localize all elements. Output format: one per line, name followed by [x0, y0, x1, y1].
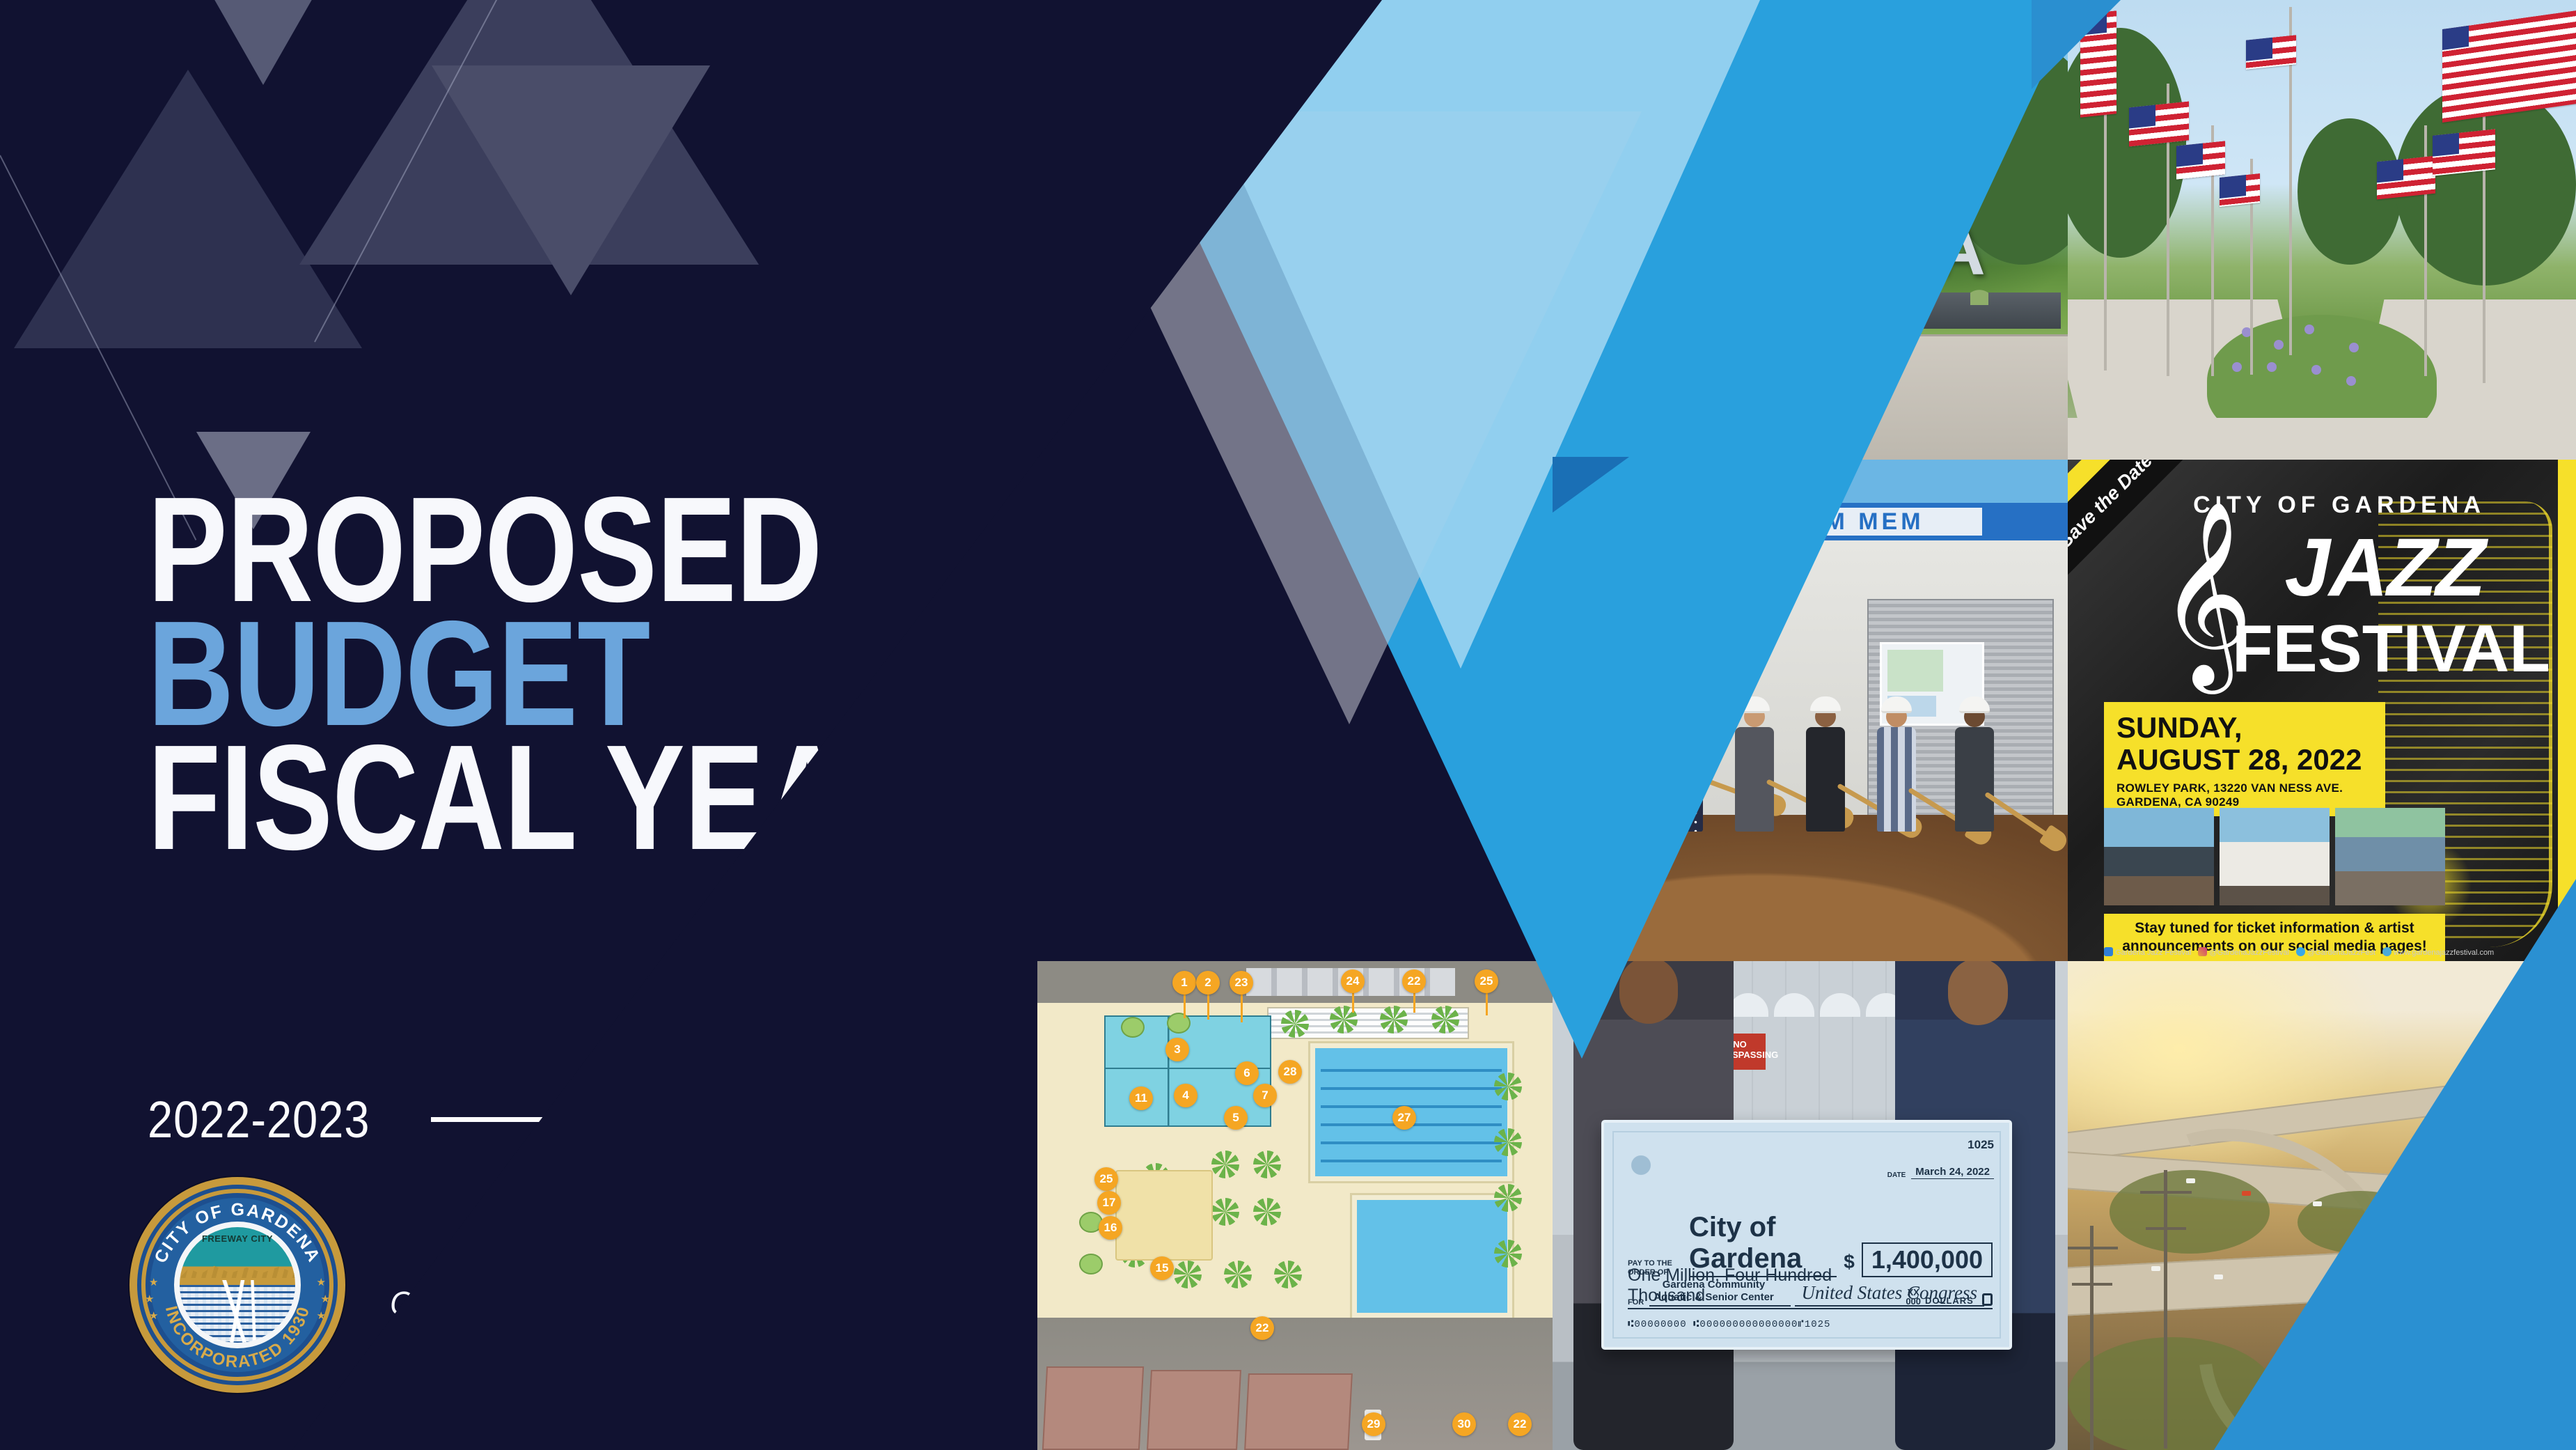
photo-avenue-of-flags: Avenue of American flags lining a civic … — [2068, 0, 2576, 460]
site-callout: 17 — [1097, 1191, 1121, 1215]
svg-text:CITY OF GARDENA: CITY OF GARDENA — [150, 1200, 324, 1266]
site-callout: 29 — [1362, 1412, 1385, 1436]
facebook-icon: Gardena Jazz Festival — [2104, 947, 2191, 957]
blue-corner-wedge-bottom-right — [2214, 879, 2576, 1450]
seal-bottom-arc: INCORPORATED 1930 — [162, 1304, 313, 1371]
site-callout: 15 — [1150, 1256, 1174, 1280]
fiscal-year-start: 2022-2023 — [148, 1090, 370, 1149]
check-micr-line: ⑆00000000 ⑆000000000000000⑈1025 — [1628, 1319, 1830, 1330]
congressional-seal-icon — [1626, 1151, 1656, 1185]
check-for-line-1: Gardena Community — [1663, 1279, 1766, 1291]
blue-corner-wedge-top-right — [2032, 0, 2121, 89]
site-callout: 22 — [1508, 1412, 1532, 1436]
check-for-line-2: Aquatic & Senior Center — [1654, 1291, 1774, 1303]
check-number: 1025 — [1968, 1138, 1994, 1152]
seal-arc-text: CITY OF GARDENA INCORPORATED 1930 — [129, 1177, 345, 1393]
poster-title-jazz: JAZZ — [2235, 527, 2534, 609]
poster-title-festival: FESTIVAL — [2232, 616, 2545, 683]
check-for-label: FOR — [1628, 1298, 1644, 1307]
poster-date-block: SUNDAY, AUGUST 28, 2022 ROWLEY PARK, 132… — [2104, 702, 2385, 816]
site-callout: 25 — [1094, 1167, 1118, 1191]
check-signature: United States Congress — [1795, 1282, 1985, 1307]
poster-photo-stage — [2104, 808, 2214, 905]
poster-day: SUNDAY, — [2116, 712, 2373, 744]
seal-top-arc: CITY OF GARDENA — [150, 1200, 324, 1266]
budget-cover-page: Avenue of American flags lining a civic … — [0, 0, 2576, 1450]
site-callout: 22 — [1250, 1316, 1274, 1340]
blue-corner-wedge-groundbreaking — [1553, 457, 1629, 513]
poster-date: AUGUST 28, 2022 — [2116, 744, 2373, 776]
check-date-label: DATE — [1887, 1171, 1906, 1179]
site-callout: 16 — [1099, 1216, 1122, 1240]
check-date-value: March 24, 2022 — [1911, 1166, 1994, 1179]
activity-pool — [1352, 1195, 1512, 1318]
ceremonial-check: 1025 DATE March 24, 2022 PAY TO THE ORDE… — [1601, 1120, 2012, 1350]
poster-venue: ROWLEY PARK, 13220 VAN NESS AVE. GARDENA… — [2116, 781, 2373, 809]
decorative-triangle — [432, 65, 710, 295]
site-callout: 30 — [1452, 1412, 1476, 1436]
svg-text:INCORPORATED 1930: INCORPORATED 1930 — [162, 1304, 313, 1371]
city-seal: FREEWAY CITY ★ ★ ★ ★ ★ ★ CITY OF GARDENA… — [129, 1177, 345, 1393]
